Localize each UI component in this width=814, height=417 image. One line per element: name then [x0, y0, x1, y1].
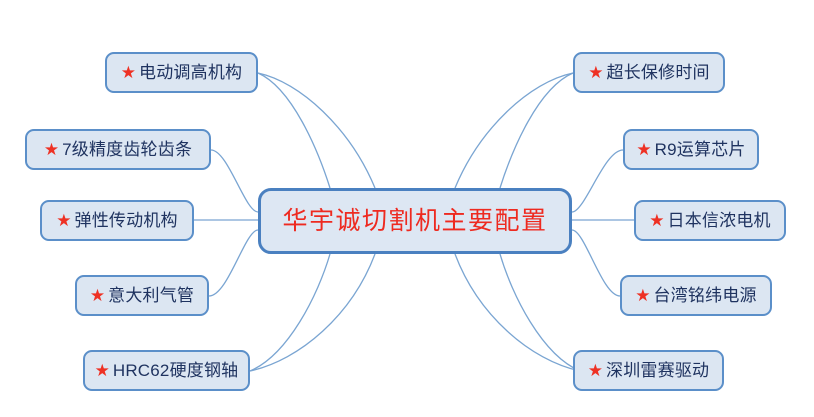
branch-label-right-2: R9运算芯片: [655, 141, 746, 158]
branch-label-right-1: 超长保修时间: [607, 64, 710, 81]
mindmap-canvas: 华宇诚切割机主要配置 ★ 电动调高机构 ★ 7级精度齿轮齿条 ★ 弹性传动机构 …: [0, 0, 814, 417]
connector-right-1b: [455, 73, 573, 188]
star-icon: ★: [90, 287, 105, 304]
branch-label-left-2: 7级精度齿轮齿条: [62, 141, 192, 158]
connector-right-5b: [455, 254, 580, 371]
branch-node-right-5[interactable]: ★ 深圳雷赛驱动: [573, 350, 724, 391]
connector-right-4: [572, 230, 620, 296]
branch-node-right-3[interactable]: ★ 日本信浓电机: [634, 200, 786, 241]
branch-node-left-5[interactable]: ★ HRC62硬度钢轴: [83, 350, 250, 391]
connector-left-4: [209, 230, 258, 296]
branch-node-left-4[interactable]: ★ 意大利气管: [75, 275, 209, 316]
branch-label-right-5: 深圳雷赛驱动: [606, 362, 709, 379]
connector-right-5: [500, 254, 580, 371]
star-icon: ★: [588, 64, 603, 81]
star-icon: ★: [121, 64, 136, 81]
star-icon: ★: [56, 212, 71, 229]
branch-node-right-1[interactable]: ★ 超长保修时间: [573, 52, 725, 93]
connector-right-1: [500, 73, 573, 188]
star-icon: ★: [635, 287, 650, 304]
branch-node-left-3[interactable]: ★ 弹性传动机构: [40, 200, 194, 241]
branch-label-right-4: 台湾铭纬电源: [654, 287, 757, 304]
branch-node-right-4[interactable]: ★ 台湾铭纬电源: [620, 275, 772, 316]
connector-left-5b: [250, 254, 375, 371]
connector-right-2: [572, 150, 623, 212]
branch-label-left-4: 意大利气管: [108, 287, 194, 304]
branch-node-left-1[interactable]: ★ 电动调高机构: [105, 52, 258, 93]
connector-left-1: [258, 73, 330, 188]
star-icon: ★: [95, 362, 110, 379]
branch-node-right-2[interactable]: ★ R9运算芯片: [623, 129, 759, 170]
star-icon: ★: [44, 141, 59, 158]
star-icon: ★: [649, 212, 664, 229]
connector-left-2: [211, 150, 258, 212]
branch-label-right-3: 日本信浓电机: [668, 212, 771, 229]
star-icon: ★: [588, 362, 603, 379]
branch-label-left-5: HRC62硬度钢轴: [113, 362, 239, 379]
connector-left-5: [250, 254, 330, 371]
star-icon: ★: [636, 141, 651, 158]
branch-node-left-2[interactable]: ★ 7级精度齿轮齿条: [25, 129, 211, 170]
branch-label-left-1: 电动调高机构: [139, 64, 242, 81]
central-topic-label: 华宇诚切割机主要配置: [282, 209, 547, 234]
branch-label-left-3: 弹性传动机构: [75, 212, 178, 229]
central-topic-node[interactable]: 华宇诚切割机主要配置: [258, 188, 572, 254]
connector-left-1b: [258, 73, 375, 188]
